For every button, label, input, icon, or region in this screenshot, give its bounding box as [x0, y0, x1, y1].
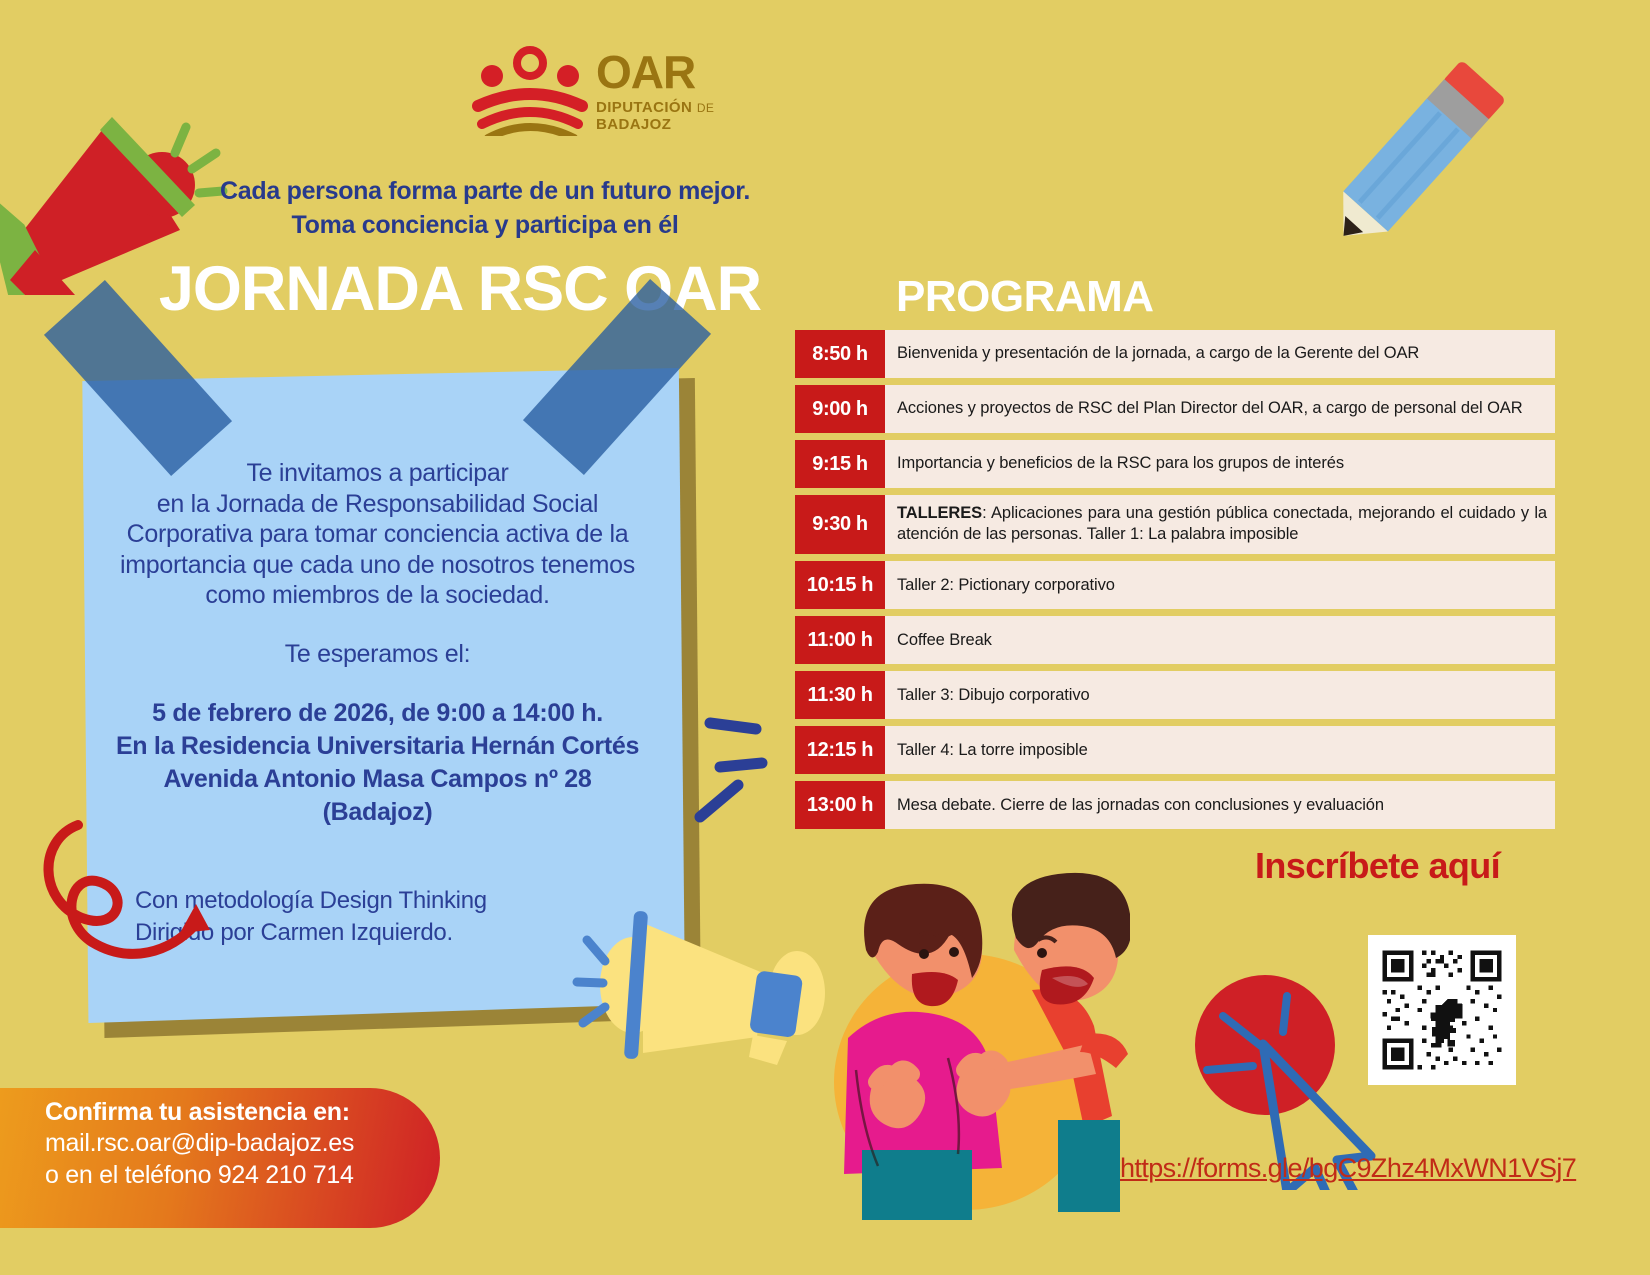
program-row-description: Taller 2: Pictionary corporativo	[885, 561, 1555, 609]
program-row-description: Bienvenida y presentación de la jornada,…	[885, 330, 1555, 378]
program-row-time: 9:30 h	[795, 495, 885, 554]
program-row-time: 8:50 h	[795, 330, 885, 378]
event-venue: En la Residencia Universitaria Hernán Co…	[90, 730, 665, 763]
program-row-description: Taller 3: Dibujo corporativo	[885, 671, 1555, 719]
program-list: 8:50 hBienvenida y presentación de la jo…	[795, 330, 1555, 836]
poster-canvas: OAR DIPUTACIÓN DE BADAJOZ Cada persona f…	[0, 0, 1650, 1275]
methodology-line: Con metodología Design Thinking	[135, 885, 665, 917]
logo-wordmark: OAR	[596, 49, 790, 95]
program-row-time: 10:15 h	[795, 561, 885, 609]
program-row-lead: TALLERES	[897, 504, 982, 522]
oar-logo-mark	[470, 46, 590, 136]
expect-label: Te esperamos el:	[90, 639, 665, 670]
blue-flecks-icon	[690, 705, 800, 835]
program-row-time: 13:00 h	[795, 781, 885, 829]
signup-url-link[interactable]: https://forms.gle/bgC9Zhz4MxWN1VSj7	[1120, 1153, 1576, 1184]
program-row-description: Acciones y proyectos de RSC del Plan Dir…	[885, 385, 1555, 433]
program-row: 9:00 hAcciones y proyectos de RSC del Pl…	[795, 385, 1555, 433]
logo-subtitle: DIPUTACIÓN DE BADAJOZ	[596, 99, 790, 133]
contact-heading: Confirma tu asistencia en:	[45, 1098, 475, 1127]
program-row-description: Coffee Break	[885, 616, 1555, 664]
program-row-description: TALLERES: Aplicaciones para una gestión …	[885, 495, 1555, 554]
program-row: 11:30 hTaller 3: Dibujo corporativo	[795, 671, 1555, 719]
two-people-talking-illustration	[770, 820, 1130, 1220]
oar-logo: OAR DIPUTACIÓN DE BADAJOZ	[470, 38, 790, 143]
program-row-description: Mesa debate. Cierre de las jornadas con …	[885, 781, 1555, 829]
contact-email[interactable]: mail.rsc.oar@dip-badajoz.es	[45, 1127, 475, 1159]
program-row-time: 12:15 h	[795, 726, 885, 774]
program-row: 9:15 hImportancia y beneficios de la RSC…	[795, 440, 1555, 488]
program-row-time: 11:00 h	[795, 616, 885, 664]
logo-subtitle-de: DE	[697, 101, 714, 115]
event-date: 5 de febrero de 2026, de 9:00 a 14:00 h.	[90, 697, 665, 730]
tagline: Cada persona forma parte de un futuro me…	[195, 175, 775, 243]
logo-subtitle-diputacion: DIPUTACIÓN	[596, 99, 692, 116]
program-row: 13:00 hMesa debate. Cierre de las jornad…	[795, 781, 1555, 829]
program-row-time: 9:15 h	[795, 440, 885, 488]
invitation-line-3: Corporativa para tomar conciencia activa…	[90, 519, 665, 550]
contact-banner-text: Confirma tu asistencia en: mail.rsc.oar@…	[45, 1098, 475, 1191]
invitation-line-2: en la Jornada de Responsabilidad Social	[90, 489, 665, 520]
pencil-icon	[1300, 45, 1530, 265]
program-row: 9:30 hTALLERES: Aplicaciones para una ge…	[795, 495, 1555, 554]
program-row: 12:15 hTaller 4: La torre imposible	[795, 726, 1555, 774]
program-row: 10:15 hTaller 2: Pictionary corporativo	[795, 561, 1555, 609]
facilitator-line: Dirigido por Carmen Izquierdo.	[135, 917, 665, 949]
qr-code-icon[interactable]	[1368, 935, 1516, 1085]
event-address: Avenida Antonio Masa Campos nº 28	[90, 763, 665, 796]
qr-code-image	[1378, 946, 1506, 1074]
invitation-line-4: importancia que cada uno de nosotros ten…	[90, 550, 665, 581]
logo-subtitle-badajoz: BADAJOZ	[596, 116, 671, 133]
program-row-description-text: : Aplicaciones para una gestión pública …	[897, 504, 1547, 543]
tagline-line-1: Cada persona forma parte de un futuro me…	[195, 175, 775, 209]
invitation-line-5: como miembros de la sociedad.	[90, 580, 665, 611]
event-city: (Badajoz)	[90, 796, 665, 829]
program-row-description: Taller 4: La torre imposible	[885, 726, 1555, 774]
program-row-time: 9:00 h	[795, 385, 885, 433]
program-row-description: Importancia y beneficios de la RSC para …	[885, 440, 1555, 488]
contact-phone: o en el teléfono 924 210 714	[45, 1159, 475, 1191]
tagline-line-2: Toma conciencia y participa en él	[195, 209, 775, 243]
signup-heading: Inscríbete aquí	[1255, 845, 1500, 887]
program-heading: PROGRAMA	[896, 272, 1154, 322]
invitation-text-block: Te invitamos a participar en la Jornada …	[90, 458, 665, 948]
program-row: 11:00 hCoffee Break	[795, 616, 1555, 664]
program-row-time: 11:30 h	[795, 671, 885, 719]
program-row: 8:50 hBienvenida y presentación de la jo…	[795, 330, 1555, 378]
